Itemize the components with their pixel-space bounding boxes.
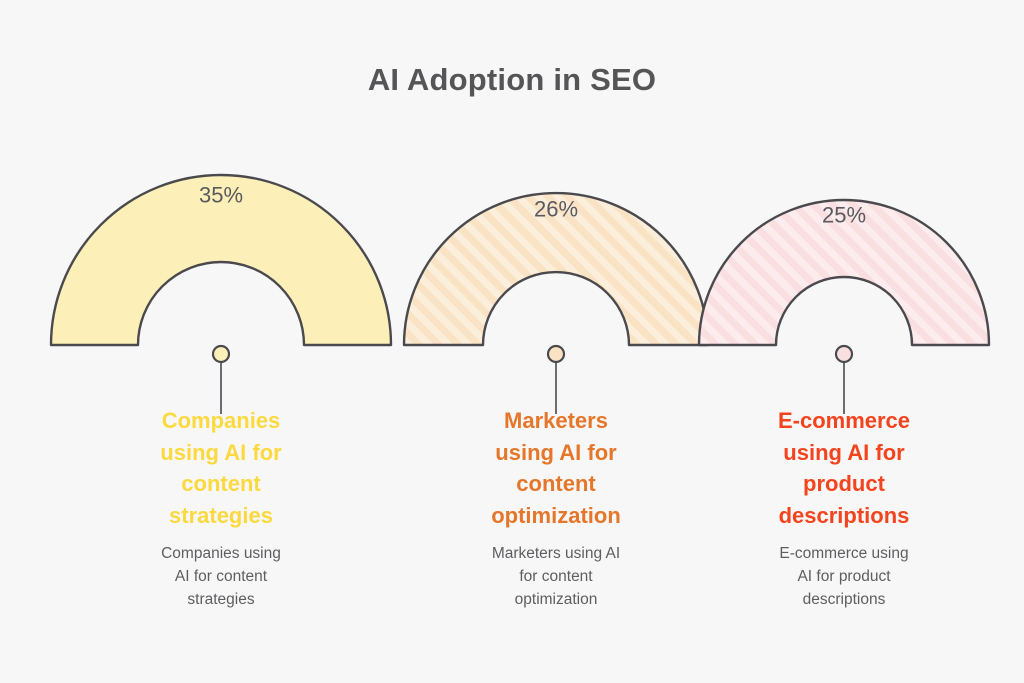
- connector-dot-icon-3: [836, 346, 852, 362]
- arc-percent-label-3: 25%: [822, 203, 866, 228]
- connector-group-2: [548, 346, 564, 414]
- arc-percent-label-1: 35%: [199, 183, 243, 208]
- legend-subtitle-3: E-commerce using AI for product descript…: [734, 542, 954, 611]
- legend-item-3[interactable]: E-commerce using AI for product descript…: [734, 405, 954, 611]
- connector-dot-icon-1: [213, 346, 229, 362]
- arc-percent-label-2: 26%: [534, 197, 578, 222]
- connector-group-3: [836, 346, 852, 414]
- arc-segment-1[interactable]: 35%: [51, 175, 391, 345]
- legend-title-2: Marketers using AI for content optimizat…: [446, 405, 666, 531]
- connector-dot-icon-2: [548, 346, 564, 362]
- legend-item-1[interactable]: Companies using AI for content strategie…: [111, 405, 331, 611]
- legend-title-1: Companies using AI for content strategie…: [111, 405, 331, 531]
- legend-item-2[interactable]: Marketers using AI for content optimizat…: [446, 405, 666, 611]
- infographic-root: AI Adoption in SEO 35% 26% 25%: [0, 0, 1024, 683]
- legend-subtitle-1: Companies using AI for content strategie…: [111, 542, 331, 611]
- legend-title-3: E-commerce using AI for product descript…: [734, 405, 954, 531]
- legend-subtitle-2: Marketers using AI for content optimizat…: [446, 542, 666, 611]
- arc-segment-3[interactable]: 25%: [699, 200, 989, 345]
- arc-segment-2[interactable]: 26%: [404, 193, 708, 345]
- connector-group-1: [213, 346, 229, 414]
